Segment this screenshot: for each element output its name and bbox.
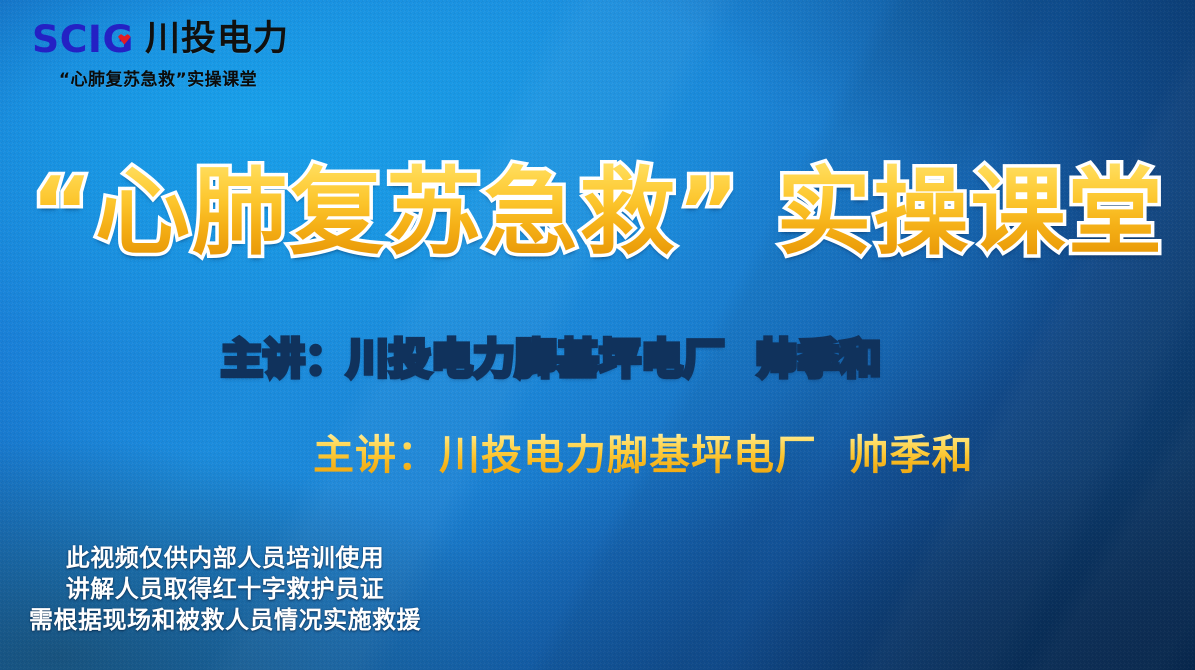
note-line: 此视频仅供内部人员培训使用	[0, 543, 450, 574]
slide-canvas: SCIG 川投电力 “心肺复苏急救”实操课堂 “心肺复苏急救” 实操课堂 “心肺…	[0, 0, 1195, 670]
main-title-fill-layer: “心肺复苏急救” 实操课堂	[31, 158, 1165, 268]
logo-subtitle: “心肺复苏急救”实操课堂	[32, 65, 284, 90]
note-line: 讲解人员取得红十字救护员证	[0, 574, 450, 605]
logo-wordmark-row: SCIG 川投电力	[32, 16, 302, 62]
heart-icon	[118, 33, 131, 45]
logo-latin-wordmark: SCIG	[32, 21, 134, 58]
disclaimer-notes: 此视频仅供内部人员培训使用 讲解人员取得红十字救护员证 需根据现场和被救人员情况…	[0, 543, 450, 636]
main-title: “心肺复苏急救” 实操课堂 “心肺复苏急救” 实操课堂	[31, 160, 1165, 266]
note-line: 需根据现场和被救人员情况实施救援	[0, 605, 450, 636]
brand-logo: SCIG 川投电力 “心肺复苏急救”实操课堂	[32, 16, 302, 90]
speaker-fill-layer: 主讲：川投电力脚基坪电厂 帅季和	[313, 431, 974, 479]
speaker-stroke-layer: 主讲：川投电力脚基坪电厂 帅季和	[221, 325, 882, 385]
main-title-container: “心肺复苏急救” 实操课堂 “心肺复苏急救” 实操课堂	[0, 160, 1195, 266]
logo-chinese-wordmark: 川投电力	[145, 22, 289, 57]
speaker-line: 主讲：川投电力脚基坪电厂 帅季和 主讲：川投电力脚基坪电厂 帅季和	[221, 325, 973, 529]
speaker-line-container: 主讲：川投电力脚基坪电厂 帅季和 主讲：川投电力脚基坪电厂 帅季和	[0, 325, 1195, 529]
